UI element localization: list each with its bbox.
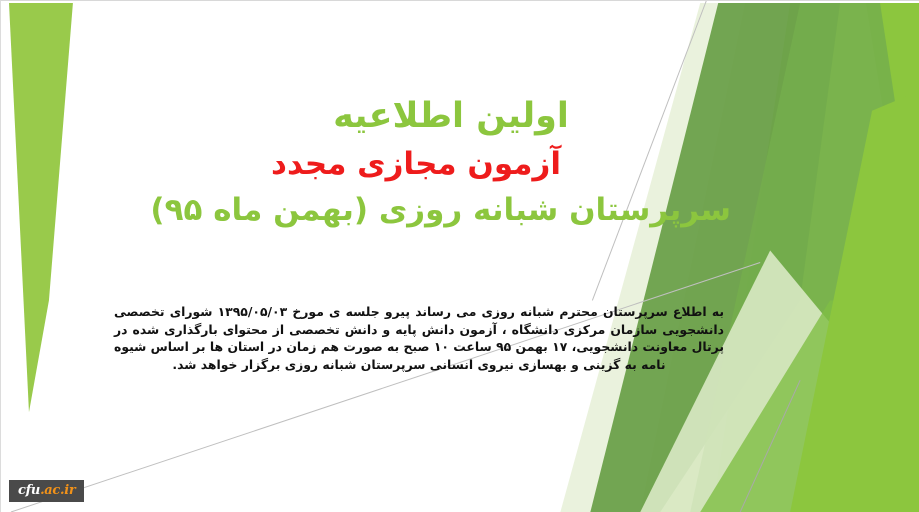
title-group: اولین اطلاعیه آزمون مجازی مجدد سرپرستان … bbox=[171, 97, 731, 230]
slide-content: اولین اطلاعیه آزمون مجازی مجدد سرپرستان … bbox=[1, 1, 919, 512]
announcement-slide: اولین اطلاعیه آزمون مجازی مجدد سرپرستان … bbox=[0, 0, 919, 512]
announcement-body-paragraph: به اطلاع سرپرستان محترم شبانه روزی می رس… bbox=[114, 303, 724, 374]
title-line-supervisors-boarding: سرپرستان شبانه روزی (بهمن ماه ۹۵) bbox=[171, 192, 731, 229]
title-line-first-announcement: اولین اطلاعیه bbox=[171, 97, 731, 136]
title-line-virtual-exam: آزمون مجازی مجدد bbox=[171, 146, 731, 183]
watermark-secondary-text: .ac.ir bbox=[40, 483, 75, 498]
watermark-primary-text: cfu bbox=[18, 483, 40, 498]
site-watermark: cfu.ac.ir bbox=[9, 480, 84, 502]
